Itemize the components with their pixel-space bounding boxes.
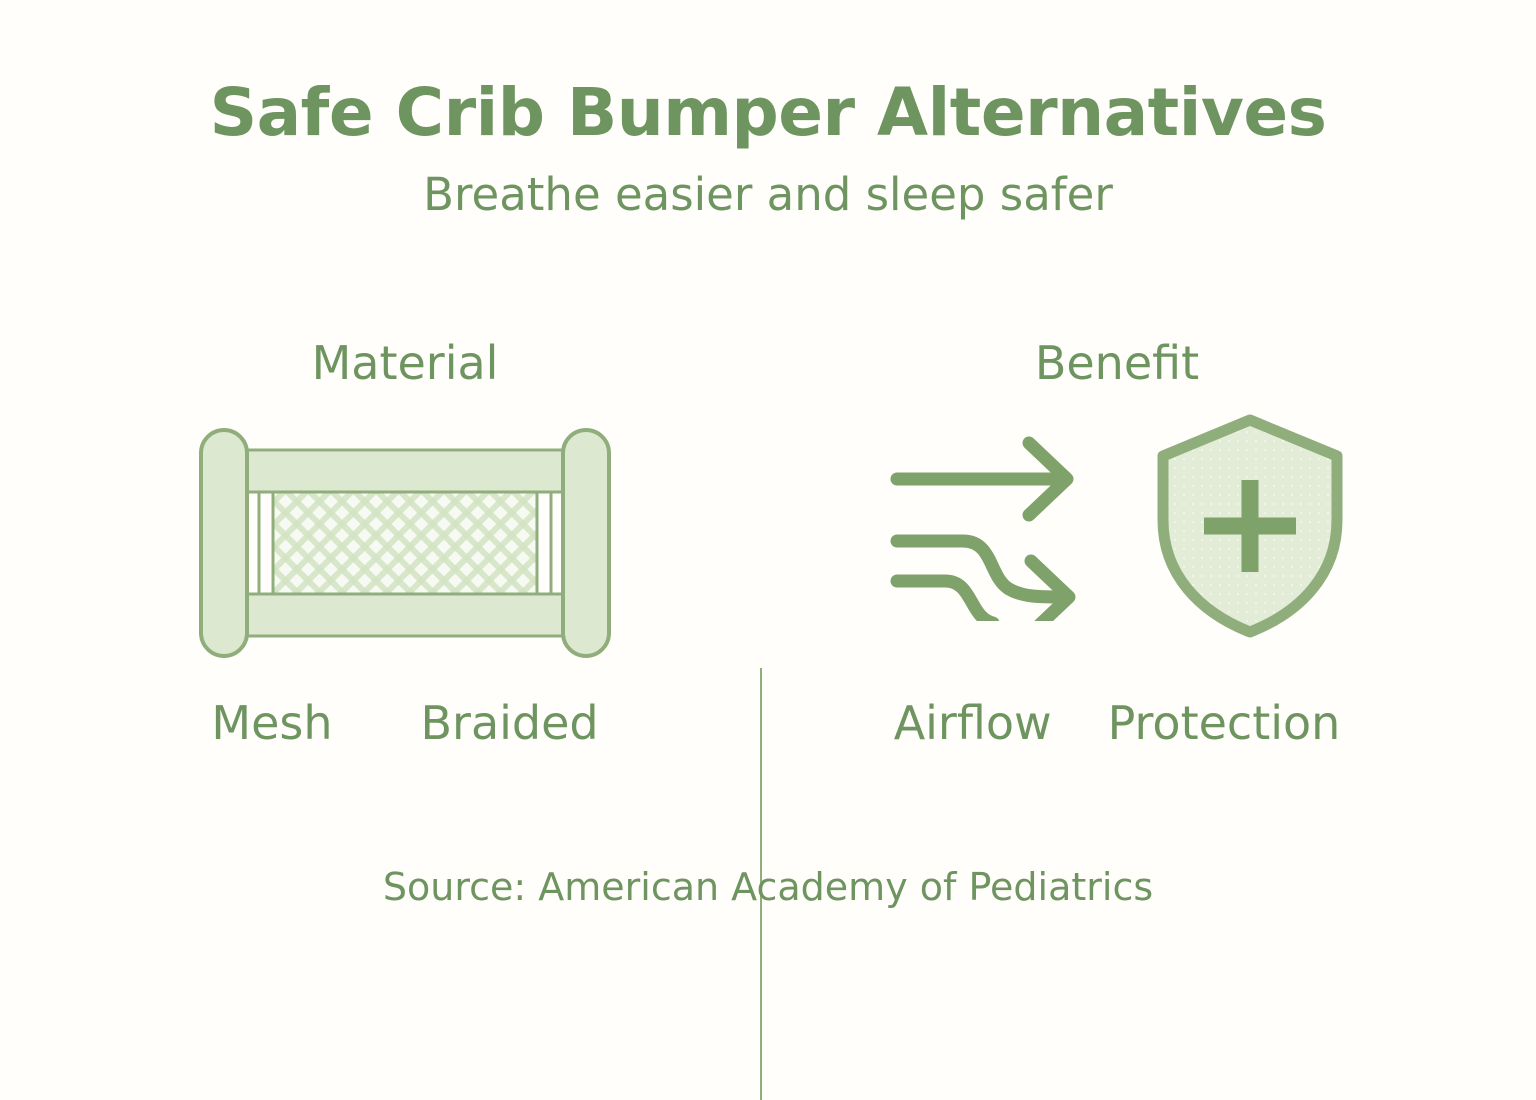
column-benefit: Benefit — [762, 330, 1472, 790]
benefit-labels: Airflow Protection — [762, 700, 1472, 746]
label-mesh: Mesh — [211, 700, 332, 746]
column-header-material: Material — [50, 340, 760, 386]
airflow-svg — [889, 431, 1089, 621]
page-subtitle: Breathe easier and sleep safer — [0, 170, 1536, 220]
label-airflow: Airflow — [894, 700, 1052, 746]
label-braided: Braided — [420, 700, 598, 746]
page-title: Safe Crib Bumper Alternatives — [0, 78, 1536, 148]
material-artwork — [50, 418, 760, 678]
benefit-artwork — [762, 418, 1472, 678]
infographic-canvas: Safe Crib Bumper Alternatives Breathe ea… — [0, 0, 1536, 1024]
column-material: Material — [50, 330, 760, 790]
crib-mesh-panel-icon — [195, 418, 615, 672]
column-header-benefit: Benefit — [762, 340, 1472, 386]
airflow-line-bottom — [897, 581, 993, 621]
crib-top-rail — [237, 450, 573, 492]
material-labels: Mesh Braided — [50, 700, 760, 746]
comparison-columns: Material — [0, 330, 1536, 790]
header: Safe Crib Bumper Alternatives Breathe ea… — [0, 78, 1536, 219]
airflow-arrows-icon — [889, 431, 1089, 625]
crib-post-left — [201, 430, 247, 656]
shield-svg — [1155, 412, 1345, 640]
crib-svg — [195, 418, 615, 668]
label-protection: Protection — [1108, 700, 1341, 746]
benefit-icons-row — [889, 412, 1345, 644]
crib-mesh-panel — [273, 492, 537, 594]
shield-plus-icon — [1155, 412, 1345, 644]
crib-post-right — [563, 430, 609, 656]
crib-bottom-rail — [237, 594, 573, 636]
source-attribution: Source: American Academy of Pediatrics — [0, 868, 1536, 906]
